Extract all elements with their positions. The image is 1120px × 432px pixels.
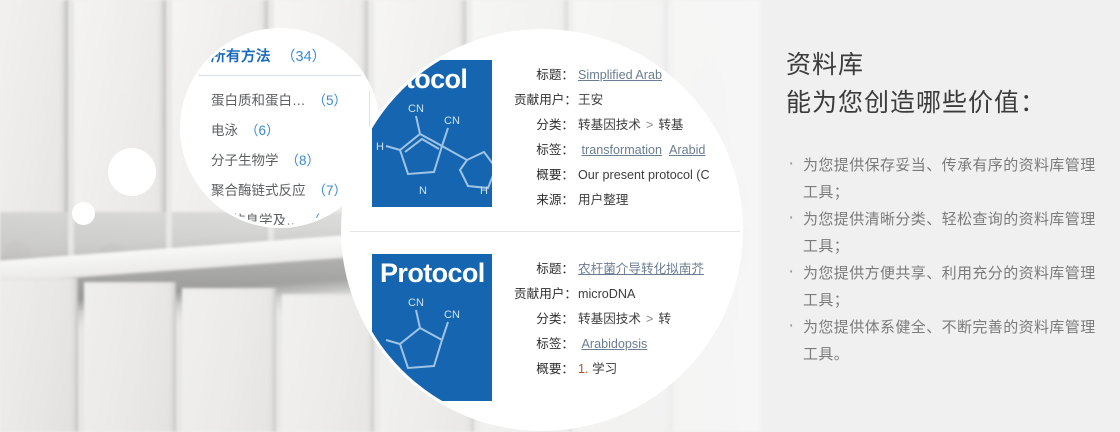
classification-child[interactable]: 转基 (658, 118, 683, 132)
svg-text:H: H (480, 185, 488, 197)
category-item-informatics[interactable]: 信息学及… （4） (190, 204, 368, 225)
copy-heading-line1: 资料库 (786, 51, 864, 79)
molecule-icon: CNCN (372, 284, 492, 401)
category-item-count: （4） (307, 209, 342, 225)
protocol-meta: 标题： 农杆菌介导转化拟南芥 贡献用户： microDNA 分类： 转基因技术>… (514, 254, 740, 401)
meta-label: 标签： (514, 332, 574, 357)
summary-text: Our present protocol (C (578, 163, 710, 188)
category-item-count: （6） (245, 119, 280, 139)
copy-heading-line2: 能为您创造哪些价值： (786, 89, 1046, 117)
svg-text:CN: CN (408, 297, 424, 309)
category-item-count: （5） (313, 89, 348, 109)
category-panel: 所有方法 （34） 蛋白质和蛋白… （5） 电泳 （6） 分子生物学 （8） 聚… (190, 45, 368, 225)
marketing-copy: 资料库 能为您创造哪些价值： 为您提供保存妥当、传承有序的资料库管理工具； 为您… (786, 46, 1096, 368)
results-circle: rotocol CNCN HNH (344, 32, 740, 428)
summary-body: 学习 (592, 362, 617, 376)
meta-summary: 概要： 1. 学习 (514, 357, 740, 382)
source-value: 用户整理 (578, 188, 628, 213)
category-item-pcr[interactable]: 聚合酶链式反应 （7） (190, 174, 368, 204)
promo-banner: 所有方法 （34） 蛋白质和蛋白… （5） 电泳 （6） 分子生物学 （8） 聚… (0, 0, 1120, 432)
meta-label: 分类： (514, 113, 574, 138)
meta-classification: 分类： 转基因技术>转基 (514, 113, 740, 138)
decorative-dot-small (72, 202, 95, 225)
classification-parent[interactable]: 转基因技术 (578, 118, 641, 132)
meta-user: 贡献用户： 王安 (514, 88, 740, 113)
tag-list: transformationArabid (578, 138, 712, 163)
benefit-item: 为您提供清晰分类、轻松查询的资料库管理工具； (786, 206, 1096, 260)
summary-text: 1. 学习 (578, 357, 617, 382)
protocol-title-link[interactable]: Simplified Arab (578, 63, 662, 88)
classification-separator: > (646, 118, 653, 132)
result-row[interactable]: rotocol CNCN HNH (350, 38, 740, 231)
protocol-title-link[interactable]: 农杆菌介导转化拟南芥 (578, 257, 704, 282)
svg-text:H: H (376, 141, 384, 153)
decorative-dot-large (108, 148, 156, 196)
benefit-item: 为您提供体系健全、不断完善的资料库管理工具。 (786, 314, 1096, 368)
summary-step-number: 1. (578, 362, 589, 376)
meta-title: 标题： 农杆菌介导转化拟南芥 (514, 257, 740, 282)
meta-label: 标题： (514, 63, 574, 88)
category-item-label: 电泳 (211, 119, 238, 139)
benefit-list: 为您提供保存妥当、传承有序的资料库管理工具； 为您提供清晰分类、轻松查询的资料库… (786, 152, 1096, 368)
category-item-label: 聚合酶链式反应 (211, 179, 306, 199)
copy-heading: 资料库 能为您创造哪些价值： (786, 46, 1096, 122)
svg-text:CN: CN (444, 115, 460, 127)
tag-chip[interactable]: Arabidopsis (582, 337, 648, 351)
protocol-meta: 标题： Simplified Arab 贡献用户： 王安 分类： 转基因技术>转… (514, 60, 740, 213)
classification-separator: > (646, 312, 653, 326)
molecule-icon: CNCN HNH (372, 90, 492, 207)
meta-label: 贡献用户： (514, 88, 574, 113)
meta-source: 来源： 用户整理 (514, 188, 740, 213)
meta-label: 贡献用户： (514, 282, 574, 307)
benefit-item: 为您提供方便共享、利用充分的资料库管理工具； (786, 260, 1096, 314)
meta-label: 标签： (514, 138, 574, 163)
category-item-label: 分子生物学 (211, 149, 279, 169)
protocol-thumbnail[interactable]: Protocol CNCN (372, 254, 492, 401)
category-item-count: （8） (286, 149, 321, 169)
contributor-name: 王安 (578, 88, 603, 113)
meta-user: 贡献用户： microDNA (514, 282, 740, 307)
category-item-protein[interactable]: 蛋白质和蛋白… （5） (190, 84, 368, 114)
benefit-item: 为您提供保存妥当、传承有序的资料库管理工具； (786, 152, 1096, 206)
meta-tags: 标签： transformationArabid (514, 138, 740, 163)
category-item-molecular-biology[interactable]: 分子生物学 （8） (190, 144, 368, 174)
category-header: 所有方法 （34） (190, 45, 368, 76)
meta-label: 标题： (514, 257, 574, 282)
category-header-count: （34） (281, 45, 326, 66)
meta-label: 概要： (514, 163, 574, 188)
category-item-label: 信息学及… (232, 209, 300, 225)
classification-child[interactable]: 转 (658, 312, 671, 326)
category-item-count: （7） (313, 179, 348, 199)
meta-summary: 概要： Our present protocol (C (514, 163, 740, 188)
meta-label: 概要： (514, 357, 574, 382)
category-item-label: 蛋白质和蛋白… (211, 89, 306, 109)
protocol-thumbnail[interactable]: rotocol CNCN HNH (372, 60, 492, 207)
category-item-electrophoresis[interactable]: 电泳 （6） (190, 114, 368, 144)
classification-parent[interactable]: 转基因技术 (578, 312, 641, 326)
meta-tags: 标签： Arabidopsis (514, 332, 740, 357)
tag-list: Arabidopsis (578, 332, 654, 357)
tag-chip[interactable]: transformation (582, 143, 663, 157)
category-header-label: 所有方法 (211, 45, 271, 66)
meta-classification: 分类： 转基因技术>转 (514, 307, 740, 332)
svg-text:CN: CN (408, 103, 424, 115)
meta-title: 标题： Simplified Arab (514, 63, 740, 88)
meta-label: 来源： (514, 188, 574, 213)
svg-text:N: N (419, 185, 427, 197)
category-list: 蛋白质和蛋白… （5） 电泳 （6） 分子生物学 （8） 聚合酶链式反应 （7）… (190, 76, 368, 225)
classification-value: 转基因技术>转基 (578, 113, 684, 138)
contributor-name: microDNA (578, 282, 635, 307)
tag-chip[interactable]: Arabid (669, 143, 705, 157)
result-row[interactable]: Protocol CNCN 标题： (350, 231, 740, 419)
classification-value: 转基因技术>转 (578, 307, 671, 332)
results-list: rotocol CNCN HNH (350, 38, 740, 419)
svg-text:CN: CN (444, 309, 460, 321)
meta-label: 分类： (514, 307, 574, 332)
